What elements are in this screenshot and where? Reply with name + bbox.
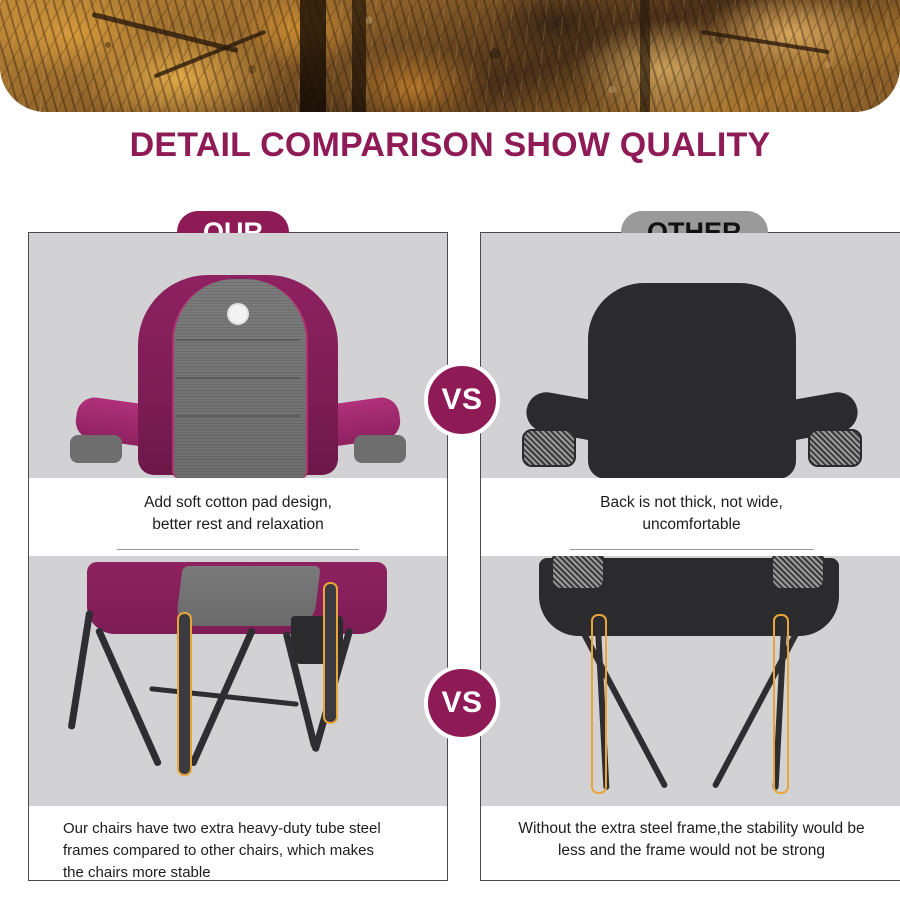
- other-missing-tube-outline-right: [773, 614, 789, 794]
- our-upper-caption-line1: Add soft cotton pad design,: [45, 492, 431, 514]
- banner-tree-trunk: [640, 0, 650, 112]
- our-lower-caption: Our chairs have two extra heavy-duty tub…: [29, 806, 447, 880]
- brand-logo-icon: [227, 303, 249, 325]
- other-chair-upper-photo: [481, 233, 900, 478]
- our-chair-lower-photo: [29, 556, 447, 806]
- our-chair-upper-photo: [29, 233, 447, 478]
- our-leg: [95, 627, 162, 767]
- our-chair-frame-art: [29, 556, 447, 806]
- caption-underline: [117, 549, 359, 550]
- our-cupholder-left: [70, 435, 122, 463]
- banner-speckle-layer: [0, 0, 900, 112]
- other-upper-caption: Back is not thick, not wide, uncomfortab…: [481, 478, 900, 556]
- our-leg: [68, 610, 94, 730]
- our-cupholder-right: [354, 435, 406, 463]
- our-lower-caption-line1: Our chairs have two extra heavy-duty tub…: [63, 818, 427, 840]
- our-upper-caption: Add soft cotton pad design, better rest …: [29, 478, 447, 556]
- banner-tree-trunk: [300, 0, 326, 112]
- our-panel: OUR Add soft cotton pad design,: [28, 232, 448, 881]
- banner-tree-trunk: [352, 0, 366, 112]
- column-other: OTHER Back is not thick, not wide, uncom…: [480, 232, 900, 881]
- vs-badge-lower: VS: [424, 665, 500, 741]
- other-upper-caption-line1: Back is not thick, not wide,: [497, 492, 886, 514]
- our-lower-caption-line3: the chairs more stable: [63, 862, 427, 884]
- column-our: OUR Add soft cotton pad design,: [28, 232, 448, 881]
- other-cupholder-right: [808, 429, 862, 467]
- other-chair-frame-art: [481, 556, 900, 806]
- other-upper-caption-line2: uncomfortable: [497, 514, 886, 536]
- other-panel: OTHER Back is not thick, not wide, uncom…: [480, 232, 900, 881]
- other-missing-tube-outline-left: [591, 614, 607, 794]
- our-pad-seam: [176, 415, 300, 417]
- other-lower-caption-line2: less and the frame would not be strong: [497, 840, 886, 862]
- other-cupholder-left: [522, 429, 576, 467]
- caption-underline: [569, 549, 813, 550]
- header-banner-photo: [0, 0, 900, 112]
- other-lower-caption: Without the extra steel frame,the stabil…: [481, 806, 900, 880]
- our-pad-seam: [176, 377, 300, 379]
- our-lower-caption-line2: frames compared to other chairs, which m…: [63, 840, 427, 862]
- other-cupholder-right: [771, 556, 825, 590]
- other-chair-lower-photo: [481, 556, 900, 806]
- infographic-page: DETAIL COMPARISON SHOW QUALITY OUR: [0, 0, 900, 900]
- other-cupholder-left: [551, 556, 605, 590]
- our-chair-padded-back-art: [88, 269, 388, 478]
- other-chair-thin-back-art: [542, 269, 842, 478]
- vs-badge-upper: VS: [424, 362, 500, 438]
- other-lower-caption-line1: Without the extra steel frame,the stabil…: [497, 818, 886, 840]
- our-upper-caption-line2: better rest and relaxation: [45, 514, 431, 536]
- our-pad-seam: [176, 339, 300, 341]
- page-title: DETAIL COMPARISON SHOW QUALITY: [0, 126, 900, 165]
- other-backrest: [588, 283, 796, 478]
- our-extra-steel-tube-left: [177, 612, 192, 776]
- our-extra-steel-tube-right: [323, 582, 338, 724]
